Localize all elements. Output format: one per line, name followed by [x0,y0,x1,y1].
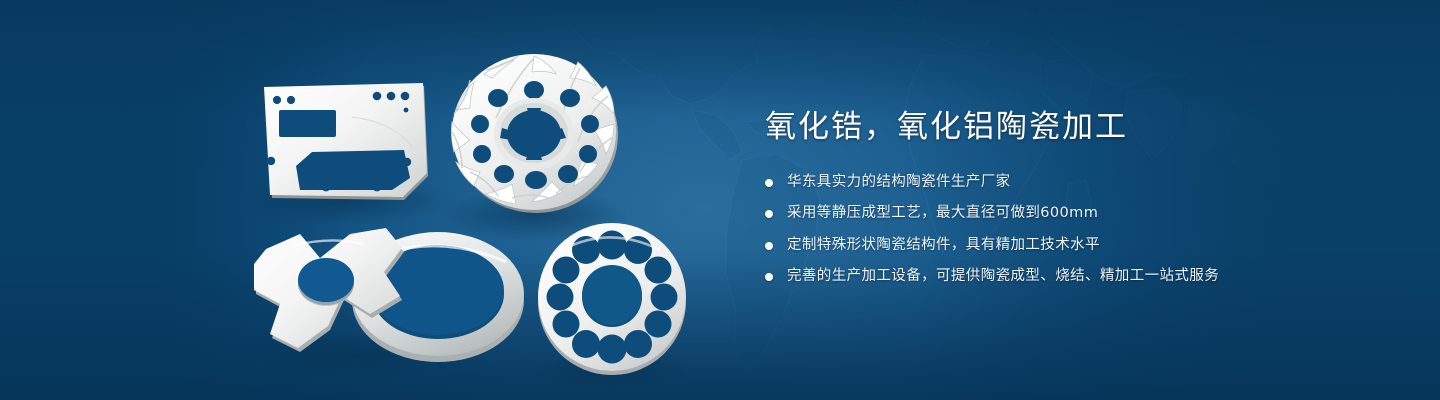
bullet-dot-icon [765,273,773,281]
bullet-dot-icon [765,179,773,187]
list-item: 华东具实力的结构陶瓷件生产厂家 [765,173,1385,193]
feature-text: 完善的生产加工设备，可提供陶瓷成型、烧结、精加工一站式服务 [787,267,1219,287]
list-item: 定制特殊形状陶瓷结构件，具有精加工技术水平 [765,236,1385,256]
bullet-dot-icon [765,210,773,218]
bullet-dot-icon [765,242,773,250]
feature-list: 华东具实力的结构陶瓷件生产厂家 采用等静压成型工艺，最大直径可做到600mm 定… [765,173,1385,287]
promo-banner: 氧化锆，氧化铝陶瓷加工 华东具实力的结构陶瓷件生产厂家 采用等静压成型工艺，最大… [0,0,1440,400]
feature-text: 采用等静压成型工艺，最大直径可做到600mm [787,204,1098,224]
feature-text: 定制特殊形状陶瓷结构件，具有精加工技术水平 [787,236,1100,256]
product-photo [0,0,740,400]
list-item: 采用等静压成型工艺，最大直径可做到600mm [765,204,1385,224]
feature-text: 华东具实力的结构陶瓷件生产厂家 [787,173,1011,193]
page-title: 氧化锆，氧化铝陶瓷加工 [765,108,1385,147]
banner-copy: 氧化锆，氧化铝陶瓷加工 华东具实力的结构陶瓷件生产厂家 采用等静压成型工艺，最大… [765,108,1385,299]
list-item: 完善的生产加工设备，可提供陶瓷成型、烧结、精加工一站式服务 [765,267,1385,287]
